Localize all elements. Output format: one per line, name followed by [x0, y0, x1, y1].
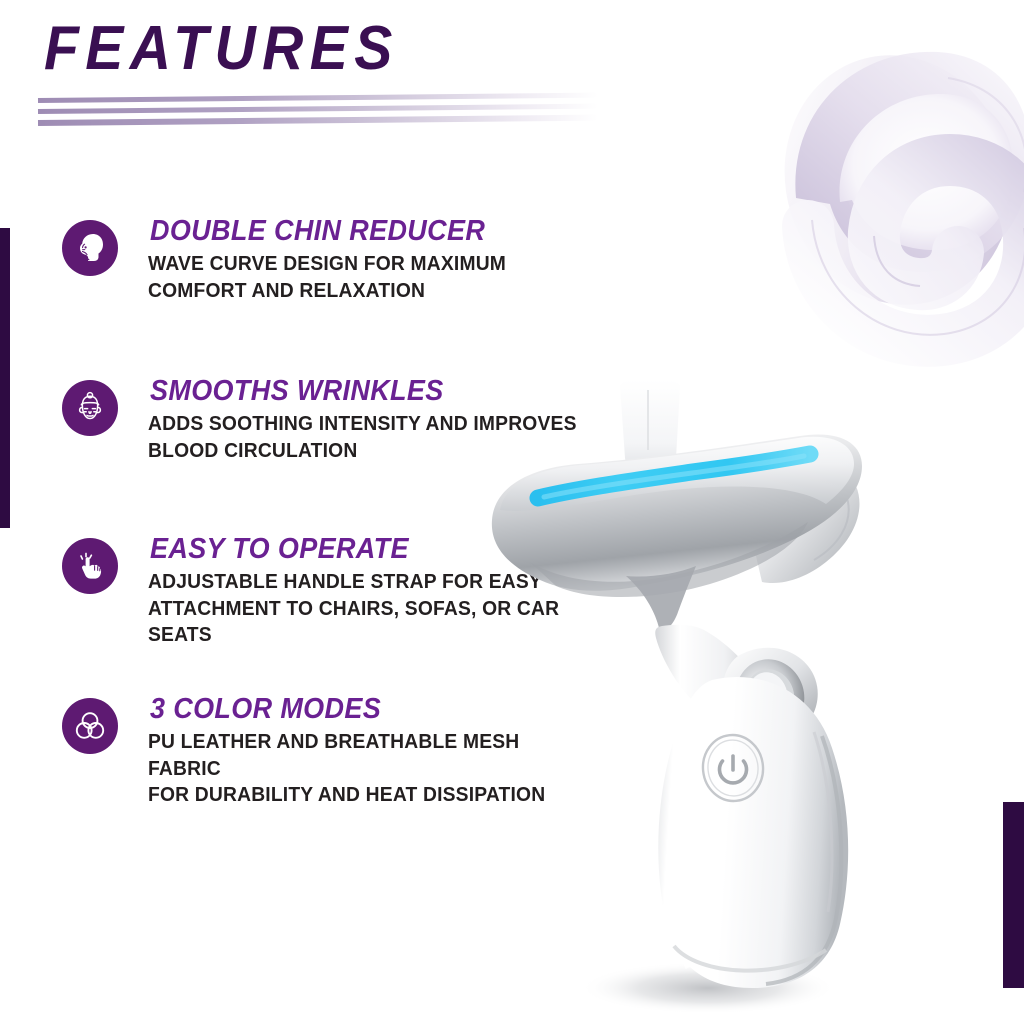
right-accent-bar: [1003, 802, 1024, 988]
tapping-hand-icon: [62, 538, 118, 594]
feature-desc-line-1: ADJUSTABLE HANDLE STRAP FOR EASY: [148, 569, 592, 595]
feature-body: DOUBLE CHIN REDUCER WAVE CURVE DESIGN FO…: [150, 216, 620, 304]
infographic-canvas: FEATURES DOUBLE CHIN RED: [0, 0, 1024, 1024]
title-rules: [38, 96, 598, 130]
wrinkled-face-icon: [62, 380, 118, 436]
title-rule-1: [38, 93, 598, 103]
feature-desc-line-2: COMFORT AND RELAXATION: [148, 278, 592, 304]
feature-title: EASY TO OPERATE: [150, 534, 587, 565]
left-accent-bar: [0, 228, 10, 528]
feature-desc-line-2: ATTACHMENT TO CHAIRS, SOFAS, OR CAR SEAT…: [148, 596, 592, 648]
feature-title: SMOOTHS WRINKLES: [150, 376, 587, 407]
feature-desc-line-1: WAVE CURVE DESIGN FOR MAXIMUM: [148, 251, 592, 277]
abstract-torus-shape: [772, 22, 1024, 392]
feature-desc-line-1: ADDS SOOTHING INTENSITY AND IMPROVES: [148, 411, 592, 437]
title-rule-3: [38, 115, 598, 126]
feature-desc-line-2: FOR DURABILITY AND HEAT DISSIPATION: [148, 782, 592, 808]
three-overlapping-circles-icon: [62, 698, 118, 754]
feature-desc-line-1: PU LEATHER AND BREATHABLE MESH FABRIC: [148, 729, 592, 781]
page-title-block: FEATURES: [0, 0, 620, 150]
title-rule-2: [38, 104, 598, 114]
feature-body: EASY TO OPERATE ADJUSTABLE HANDLE STRAP …: [150, 534, 620, 648]
feature-title: DOUBLE CHIN REDUCER: [150, 216, 587, 247]
feature-body: 3 COLOR MODES PU LEATHER AND BREATHABLE …: [150, 694, 620, 808]
power-button-icon: [700, 732, 767, 804]
page-title: FEATURES: [44, 18, 399, 80]
feature-desc-line-2: BLOOD CIRCULATION: [148, 438, 592, 464]
face-chin-profile-icon: [62, 220, 118, 276]
feature-title: 3 COLOR MODES: [150, 694, 587, 725]
feature-body: SMOOTHS WRINKLES ADDS SOOTHING INTENSITY…: [150, 376, 620, 464]
